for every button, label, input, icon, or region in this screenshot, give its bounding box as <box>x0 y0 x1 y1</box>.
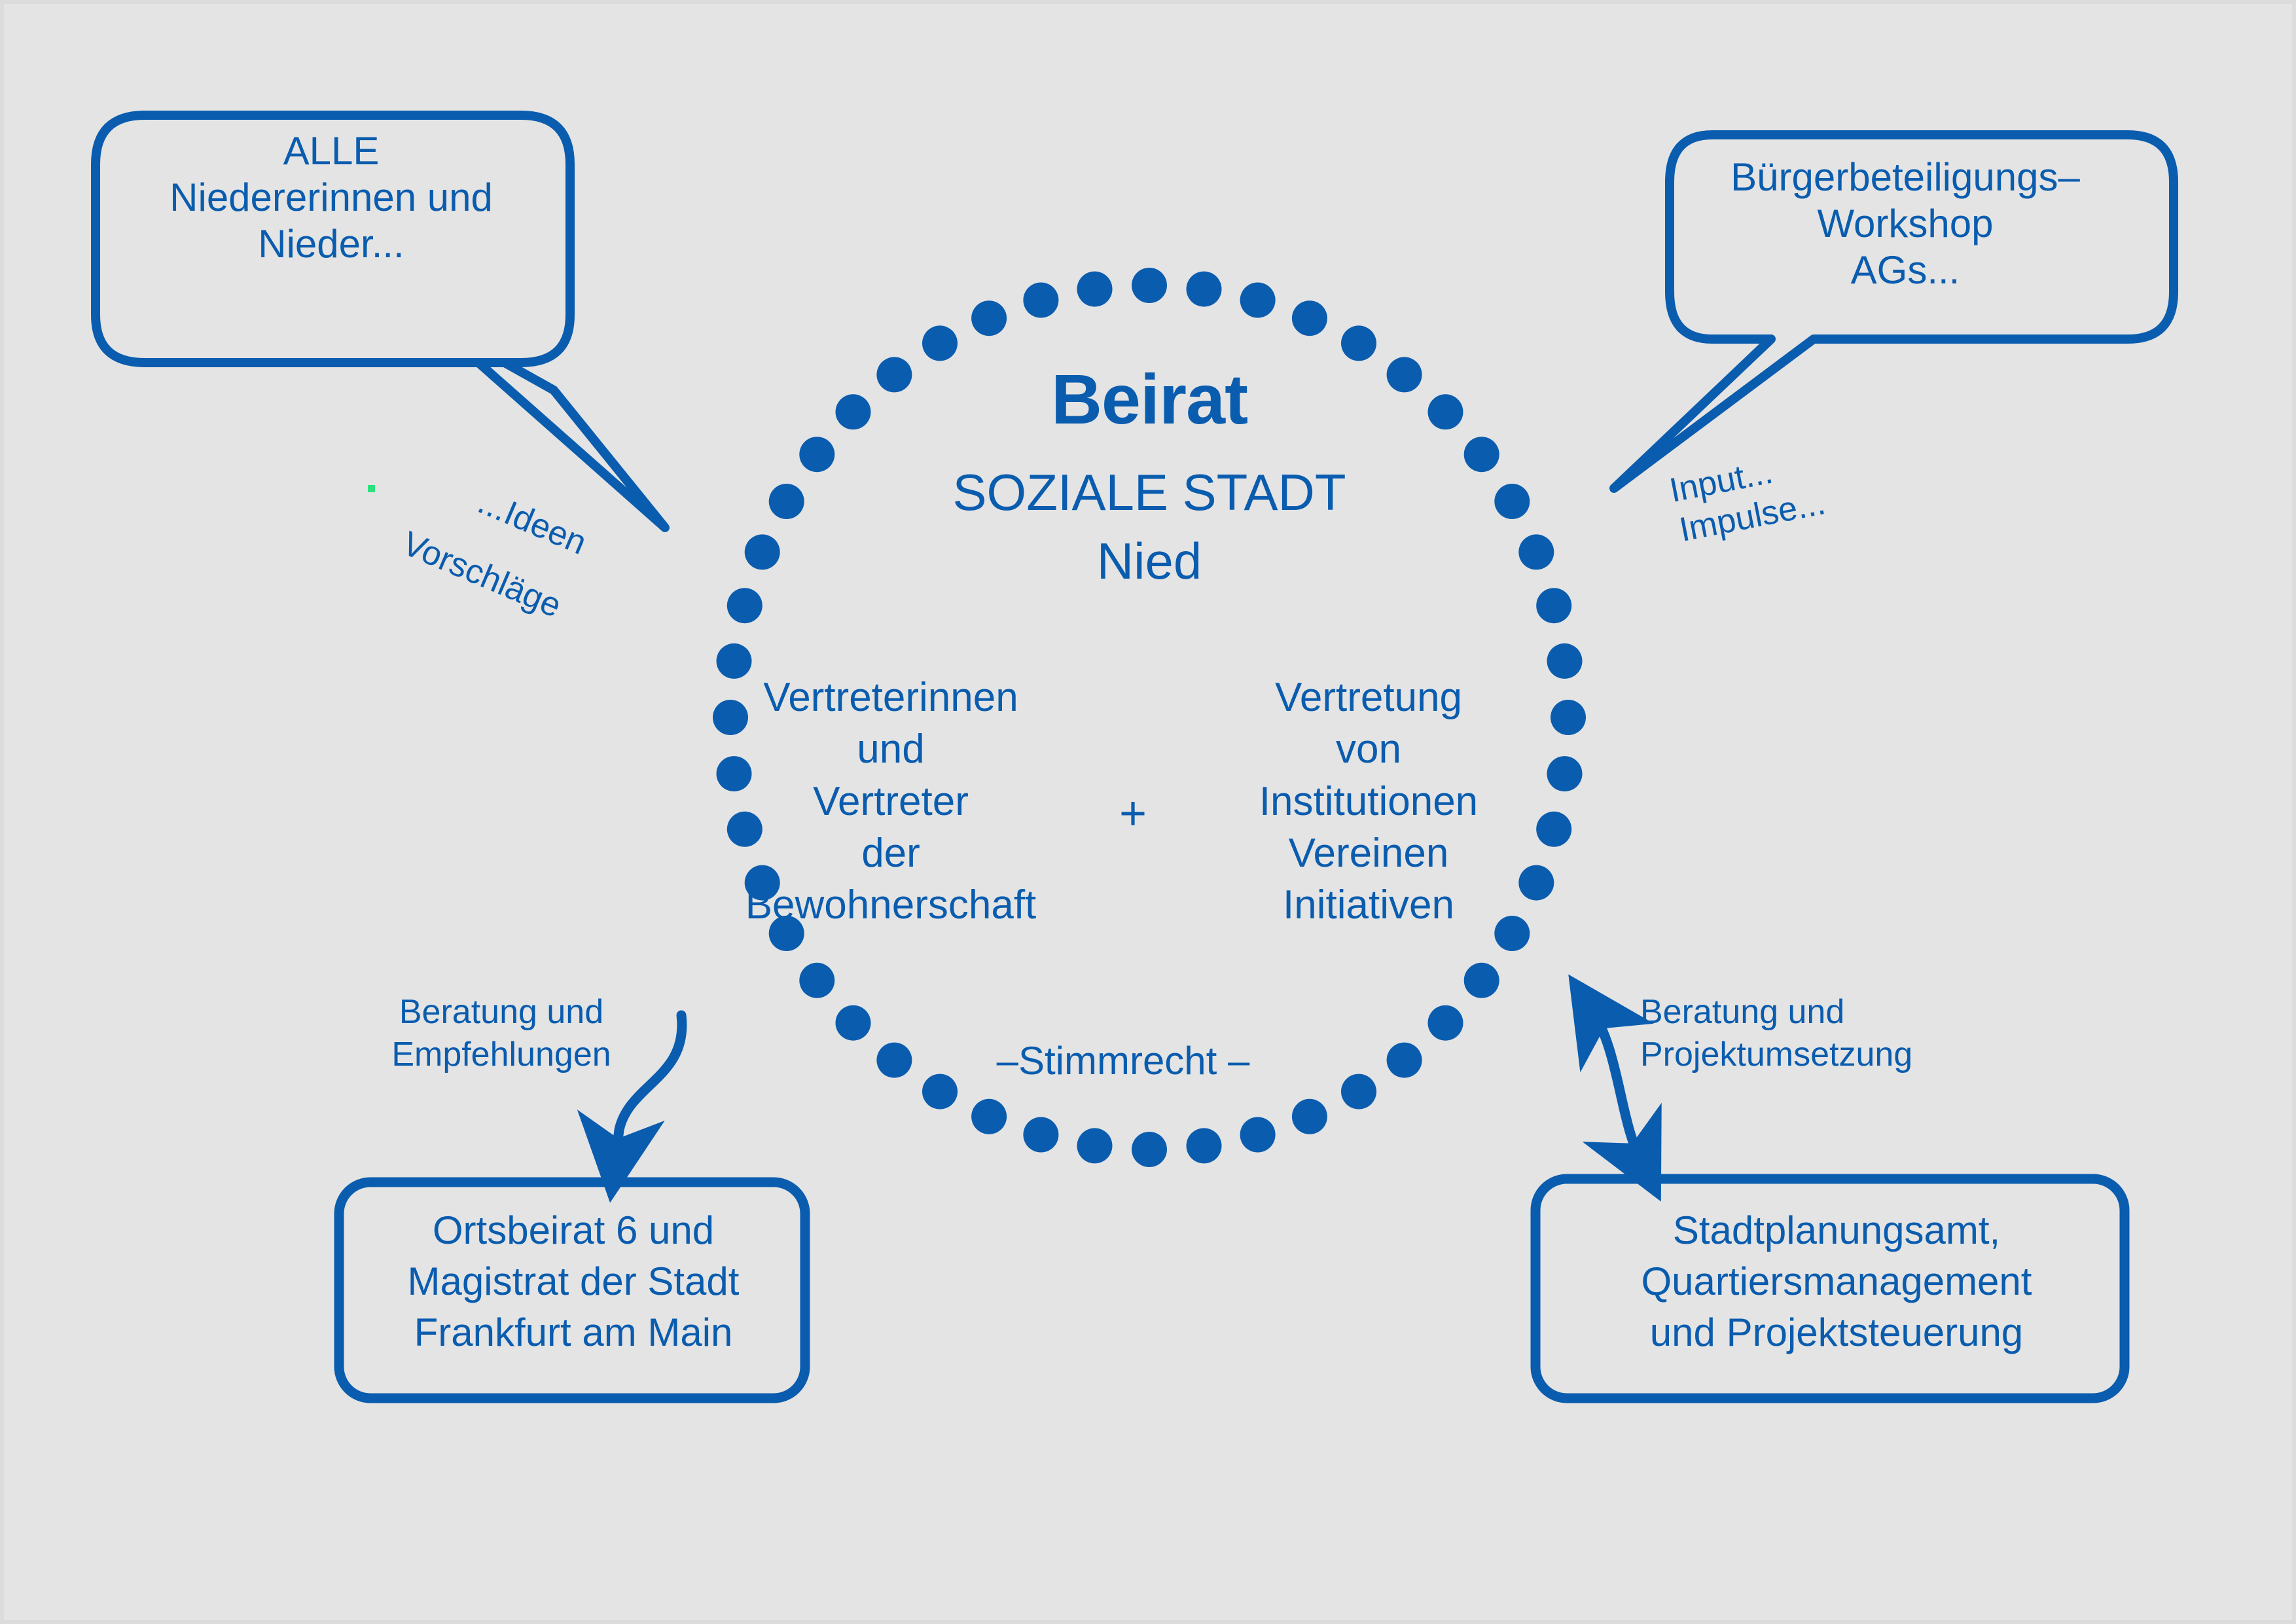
label-beratung-projektumsetzung: Beratung und Projektumsetzung <box>1640 991 1981 1076</box>
ring-dot <box>1023 283 1058 318</box>
ring-dot <box>1292 300 1327 336</box>
ring-dot <box>971 300 1007 336</box>
ring-dot <box>1551 700 1586 735</box>
ring-dot <box>1547 756 1583 791</box>
ring-dot <box>1341 1074 1376 1110</box>
ring-dot <box>1428 1005 1463 1041</box>
ring-dot <box>727 588 762 623</box>
stimmrecht-note: –Stimmrecht – <box>940 1038 1306 1085</box>
ring-dot <box>1341 325 1376 361</box>
ring-dot <box>799 963 834 998</box>
ring-dot <box>1132 268 1167 303</box>
ring-dot <box>1023 1117 1058 1153</box>
ring-dot <box>1518 534 1554 569</box>
ring-dot <box>1187 272 1222 307</box>
box-bottom-right-text: Stadtplanungsamt, Quartiersmanagement un… <box>1555 1205 2118 1358</box>
bubble-top-left-text: ALLE Niedererinnen und Nieder... <box>102 128 560 267</box>
subtitle-soziale-stadt: SOZIALE STADT <box>816 462 1483 522</box>
ring-dot <box>1077 272 1113 307</box>
ring-dot <box>1240 1117 1276 1153</box>
ring-dot <box>971 1099 1007 1134</box>
plus-sign: + <box>1090 786 1175 842</box>
label-beratung-empfehlungen: Beratung und Empfehlungen <box>370 991 632 1076</box>
ring-dot <box>922 325 958 361</box>
ring-dot <box>1240 283 1276 318</box>
ring-dot <box>1077 1128 1113 1163</box>
box-bottom-left-text: Ortsbeirat 6 und Magistrat der Stadt Fra… <box>344 1205 802 1358</box>
diagram-canvas: ALLE Niedererinnen und Nieder... Bürgerb… <box>0 0 2296 1624</box>
ring-dot <box>769 484 804 519</box>
column-bewohnerschaft: Vertreterinnen und Vertreter der Bewohne… <box>694 672 1087 931</box>
ring-dot <box>1464 963 1499 998</box>
ring-dot <box>1132 1132 1167 1167</box>
ring-dot <box>1547 643 1583 679</box>
ring-dot <box>1536 812 1571 847</box>
subtitle-nied: Nied <box>816 531 1483 591</box>
green-speck-artifact <box>368 485 375 492</box>
ring-dot <box>836 1005 871 1041</box>
ring-dot <box>1387 1043 1422 1078</box>
ring-dot <box>745 534 780 569</box>
column-institutionen: Vertretung von Institutionen Vereinen In… <box>1198 672 1539 931</box>
ring-dot <box>876 1043 912 1078</box>
page-title: Beirat <box>816 357 1483 441</box>
ring-dot <box>1292 1099 1327 1134</box>
bubble-top-right-text: Bürgerbeteiligungs– Workshop AGs... <box>1679 154 2131 293</box>
arrow-beratung-projektumsetzung <box>1591 1009 1640 1159</box>
ring-dot <box>1494 484 1530 519</box>
ring-dot <box>1187 1128 1222 1163</box>
ring-dot <box>1536 588 1571 623</box>
